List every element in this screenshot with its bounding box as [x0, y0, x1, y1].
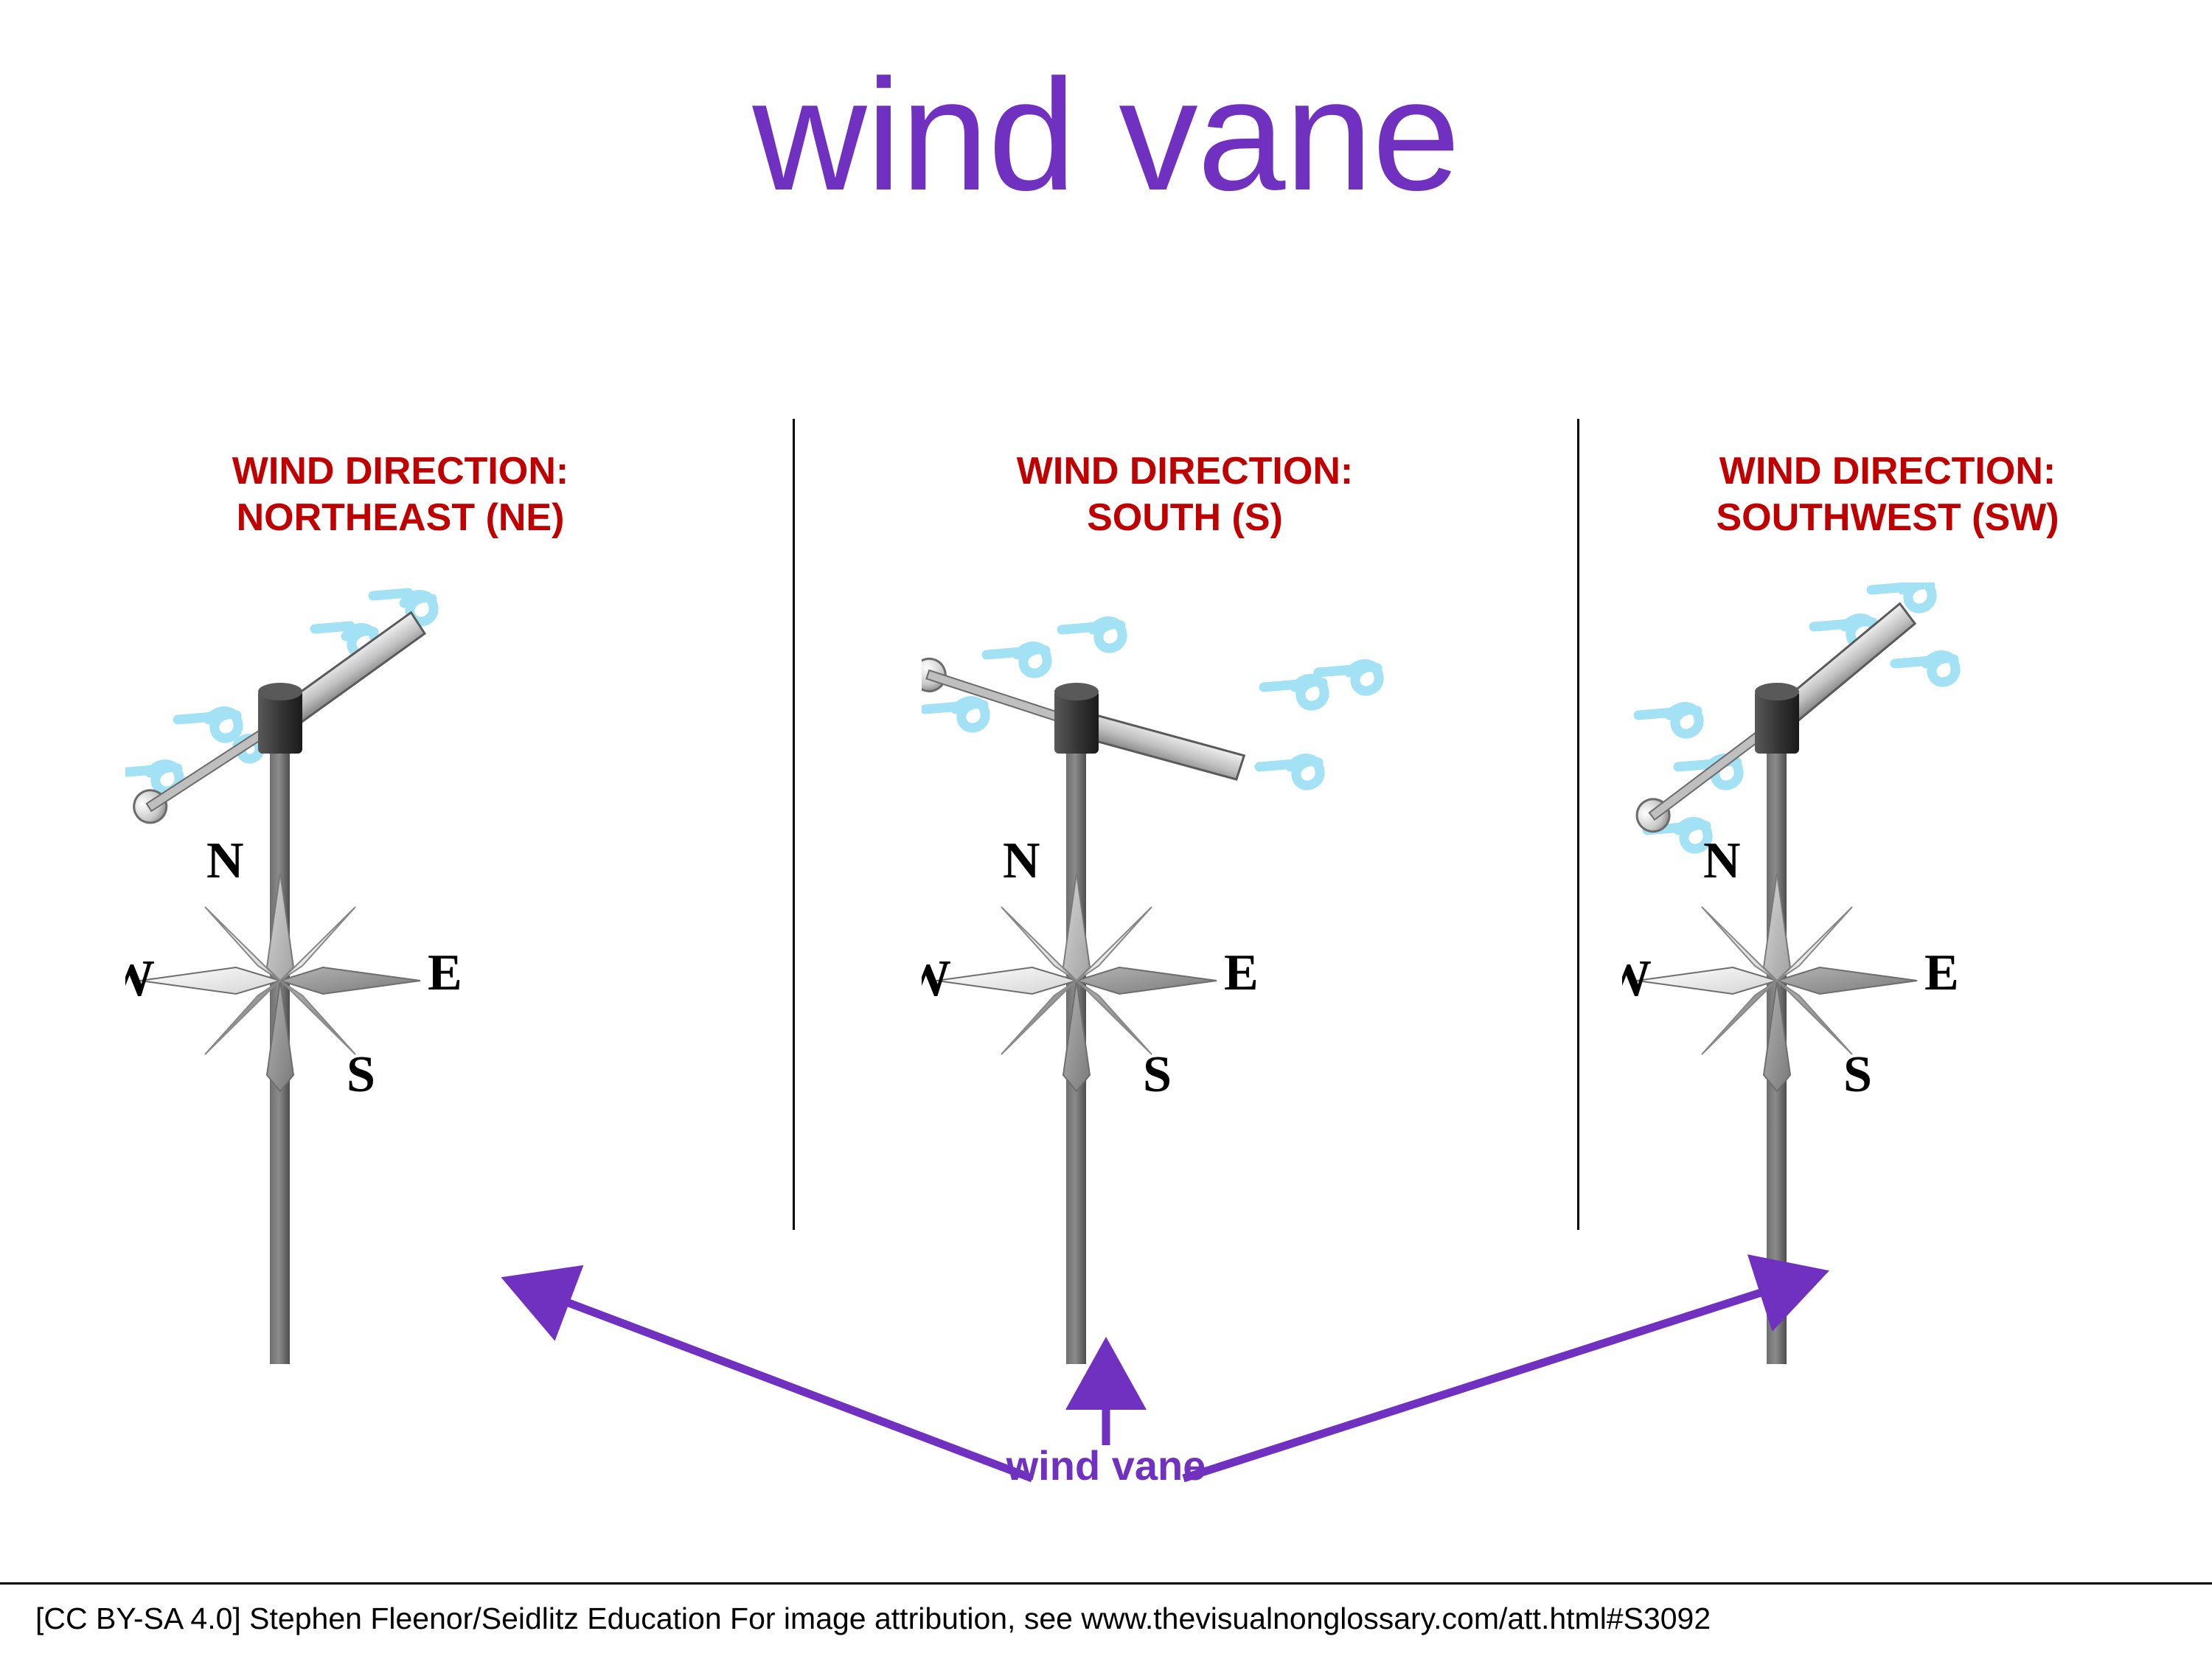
wind-vane-southwest: N W E S — [1622, 582, 2183, 1364]
wind-vane-south: N W E S — [922, 582, 1482, 1364]
wind-swirl-icon — [925, 622, 1379, 786]
vane-hub — [1054, 683, 1099, 754]
heading-line-2: NORTHEAST (NE) — [32, 495, 769, 541]
compass-label-w: W — [922, 950, 951, 1007]
compass-rose — [1637, 874, 1917, 1091]
compass-label-e: E — [1924, 945, 1959, 1001]
column-heading-south: WIND DIRECTION: SOUTH (S) — [816, 448, 1554, 542]
compass-label-s: S — [347, 1046, 375, 1103]
compass-label-n: N — [1003, 832, 1040, 889]
vane-hub — [1755, 683, 1799, 754]
wind-vane-northeast: N W E S — [125, 582, 686, 1364]
vane-hub — [258, 683, 302, 754]
compass-label-w: W — [1622, 950, 1652, 1007]
heading-line-1: WIND DIRECTION: — [816, 448, 1554, 495]
compass-rose — [936, 874, 1217, 1091]
compass-label-s: S — [1143, 1046, 1172, 1103]
compass-label-e: E — [1224, 945, 1259, 1001]
callout-label: wind vane — [951, 1441, 1261, 1489]
compass-label-n: N — [206, 832, 244, 889]
heading-line-2: SOUTH (S) — [816, 495, 1554, 541]
footer-divider — [0, 1582, 2212, 1585]
heading-line-2: SOUTHWEST (SW) — [1519, 495, 2212, 541]
wind-vane-graphic: N W E S — [125, 582, 686, 1364]
slide-canvas: wind vane WIND DIRECTION: NORTHEAST (NE)… — [0, 0, 2212, 1659]
compass-label-e: E — [428, 945, 462, 1001]
column-heading-northeast: WIND DIRECTION: NORTHEAST (NE) — [32, 448, 769, 542]
compass-label-s: S — [1843, 1046, 1872, 1103]
page-title: wind vane — [0, 52, 2212, 218]
column-heading-southwest: WIND DIRECTION: SOUTHWEST (SW) — [1519, 448, 2212, 542]
compass-label-w: W — [125, 950, 155, 1007]
column-divider-1 — [793, 419, 795, 1230]
compass-label-n: N — [1703, 832, 1741, 889]
wind-vane-graphic: N W E S — [1622, 582, 2183, 1364]
compass-rose — [140, 874, 420, 1091]
wind-vane-graphic: N W E S — [922, 582, 1482, 1364]
heading-line-1: WIND DIRECTION: — [32, 448, 769, 495]
heading-line-1: WIND DIRECTION: — [1519, 448, 2212, 495]
attribution-text: [CC BY-SA 4.0] Stephen Fleenor/Seidlitz … — [35, 1601, 1711, 1636]
